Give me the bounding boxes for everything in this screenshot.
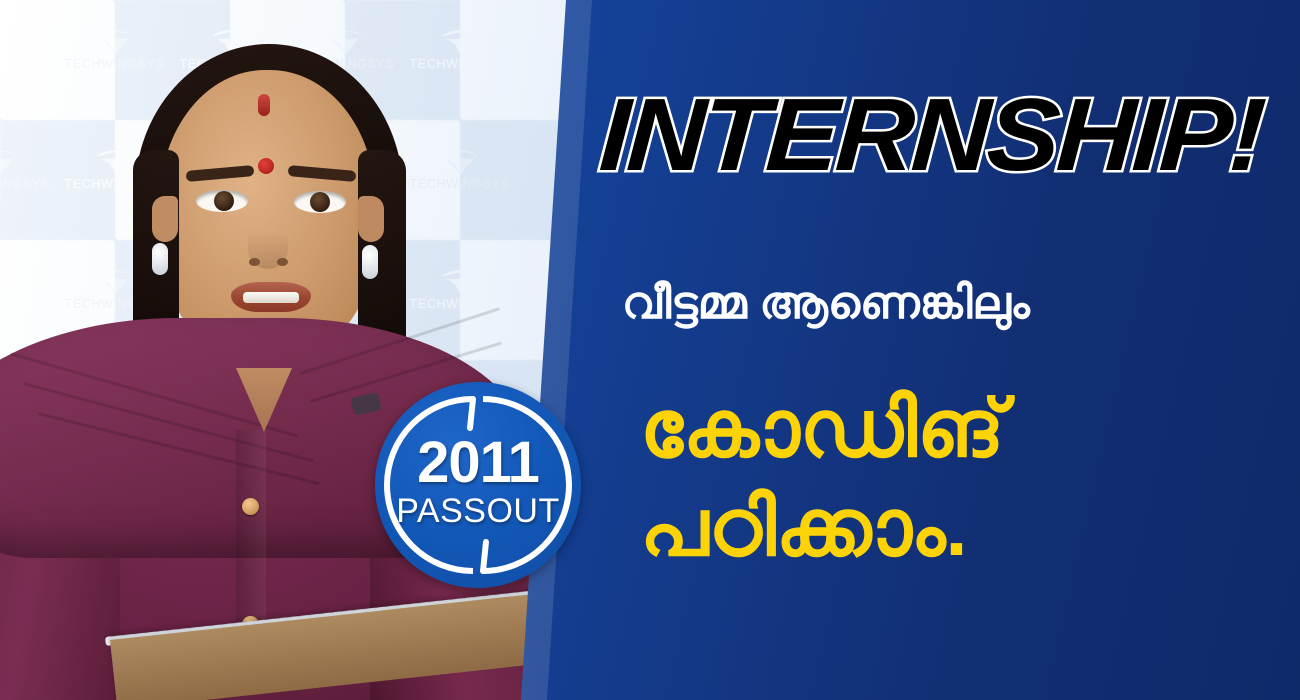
right-earring [362, 245, 378, 279]
badge-label: PASSOUT [396, 494, 559, 530]
left-ear [152, 196, 178, 242]
poster-canvas: TECHWINGSYSTECHWINGSYSTECHWINGSYSTECHWIN… [0, 0, 1300, 700]
left-iris [214, 191, 234, 211]
highlight-line-2: പഠിക്കാം. [640, 487, 1260, 569]
presenter-photo [0, 0, 620, 700]
right-eye [294, 191, 346, 213]
left-eye [196, 190, 248, 212]
headline-block: INTERNSHIP! [600, 86, 1260, 184]
subtitle-white: വീട്ടമ്മ ആണെങ്കിലും [622, 278, 1262, 328]
right-ear [358, 196, 384, 242]
page-title: INTERNSHIP! [597, 86, 1300, 184]
right-nostril [277, 258, 288, 266]
badge-year: 2011 [417, 434, 539, 492]
shirt-button [242, 498, 259, 515]
right-iris [310, 192, 330, 212]
highlight-line-1: കോഡിങ് [640, 388, 1260, 470]
status-badge: 2011 PASSOUT [375, 382, 581, 588]
teeth [243, 292, 299, 303]
left-nostril [249, 258, 260, 266]
bindi [258, 158, 274, 174]
sindoor-mark [258, 94, 270, 116]
badge-text: 2011 PASSOUT [375, 434, 581, 530]
left-earring [152, 243, 168, 275]
mouth [231, 282, 311, 312]
